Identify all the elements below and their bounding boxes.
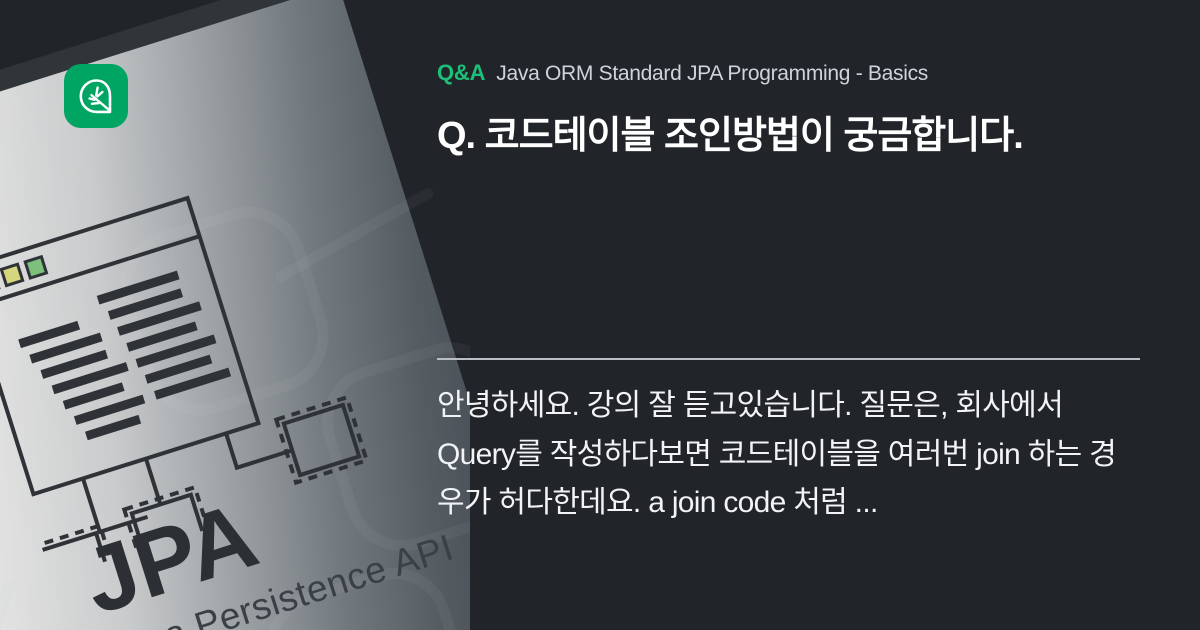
page-title: Q. 코드테이블 조인방법이 궁금합니다. (437, 112, 1137, 161)
window-dot-green (25, 257, 46, 278)
og-card-root: JPA Java Persistence API Q&A Java ORM St… (0, 0, 1200, 630)
window-dot-yellow (1, 264, 22, 285)
post-content: Q&A Java ORM Standard JPA Programming - … (437, 0, 1200, 630)
leaf-icon (77, 77, 115, 115)
course-title-label: Java ORM Standard JPA Programming - Basi… (496, 62, 928, 86)
breadcrumb: Q&A Java ORM Standard JPA Programming - … (437, 60, 1200, 86)
qa-badge: Q&A (437, 60, 485, 86)
post-body: 안녕하세요. 강의 잘 듣고있습니다. 질문은, 회사에서 Query를 작성하… (437, 382, 1140, 528)
content-divider (437, 358, 1140, 360)
inflearn-logo[interactable] (64, 64, 128, 128)
